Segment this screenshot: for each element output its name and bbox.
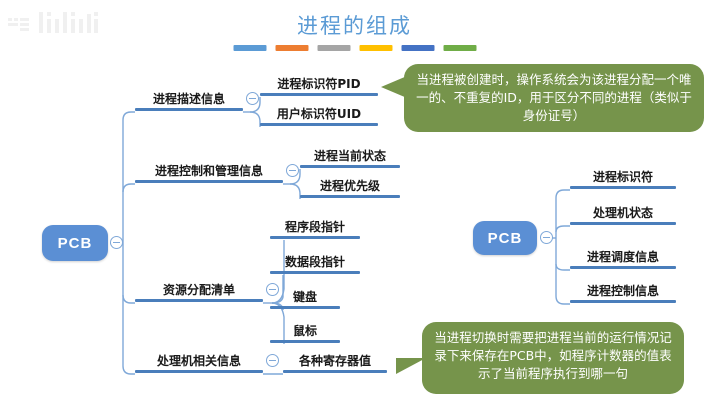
callout-pid: 当进程被创建时，操作系统会为该进程分配一个唯一的、不重复的ID，用于区分不同的进…: [404, 64, 704, 132]
node-label: 进程调度信息: [570, 250, 676, 266]
node-processor-state[interactable]: 处理机状态: [570, 206, 676, 225]
node-underline: [135, 370, 263, 373]
node-label: 数据段指针: [270, 255, 360, 271]
root-node-pcb-left[interactable]: PCB: [42, 225, 108, 261]
collapse-toggle-root-right[interactable]: [540, 231, 553, 244]
node-process-priority[interactable]: 进程优先级: [300, 179, 400, 198]
node-underline: [300, 165, 400, 168]
node-underline: [135, 180, 283, 183]
node-label: 处理机相关信息: [135, 354, 263, 370]
node-process-description-info[interactable]: 进程描述信息: [135, 92, 243, 111]
node-underline: [270, 306, 340, 309]
node-mouse[interactable]: 鼠标: [270, 324, 340, 343]
node-processor-related-info[interactable]: 处理机相关信息: [135, 354, 263, 373]
node-process-current-state[interactable]: 进程当前状态: [300, 149, 400, 168]
collapse-toggle-root-left[interactable]: [110, 236, 123, 249]
node-underline: [260, 123, 378, 126]
node-label: 处理机状态: [570, 206, 676, 222]
callout-switch: 当进程切换时需要把进程当前的运行情况记录下来保存在PCB中，如程序计数器的值表示…: [422, 322, 684, 394]
collapse-toggle-process-description-info[interactable]: [246, 92, 259, 105]
node-pid[interactable]: 进程标识符PID: [260, 77, 378, 96]
mindmap-canvas: 进程的组成: [0, 0, 709, 400]
node-process-control-info[interactable]: 进程控制信息: [570, 284, 676, 303]
node-underline: [570, 266, 676, 269]
node-label: 程序段指针: [270, 220, 360, 236]
node-various-register-values[interactable]: 各种寄存器值: [283, 354, 387, 373]
node-underline: [135, 108, 243, 111]
node-label: 键盘: [270, 290, 340, 306]
node-uid[interactable]: 用户标识符UID: [260, 107, 378, 126]
node-data-segment-pointer[interactable]: 数据段指针: [270, 255, 360, 274]
node-label: 进程优先级: [300, 179, 400, 195]
node-underline: [260, 93, 378, 96]
node-underline: [135, 299, 263, 302]
root-node-pcb-left-label: PCB: [58, 235, 93, 252]
node-label: 各种寄存器值: [283, 354, 387, 370]
node-process-scheduling-info[interactable]: 进程调度信息: [570, 250, 676, 269]
callout-switch-text: 当进程切换时需要把进程当前的运行情况记录下来保存在PCB中，如程序计数器的值表示…: [434, 330, 672, 381]
node-underline: [270, 236, 360, 239]
root-node-pcb-right[interactable]: PCB: [473, 221, 537, 255]
collapse-toggle-process-control-mgmt-info[interactable]: [286, 164, 299, 177]
node-label: 用户标识符UID: [260, 107, 378, 123]
root-node-pcb-right-label: PCB: [488, 230, 523, 247]
callout-pid-text: 当进程被创建时，操作系统会为该进程分配一个唯一的、不重复的ID，用于区分不同的进…: [416, 72, 692, 123]
node-underline: [270, 271, 360, 274]
node-underline: [300, 195, 400, 198]
node-underline: [283, 370, 387, 373]
node-underline: [270, 340, 340, 343]
node-program-segment-pointer[interactable]: 程序段指针: [270, 220, 360, 239]
node-underline: [570, 186, 676, 189]
node-resource-allocation-list[interactable]: 资源分配清单: [135, 283, 263, 302]
node-underline: [570, 222, 676, 225]
node-underline: [570, 300, 676, 303]
node-label: 进程描述信息: [135, 92, 243, 108]
collapse-toggle-processor-related-info[interactable]: [266, 354, 279, 367]
node-label: 进程标识符: [570, 170, 676, 186]
node-label: 资源分配清单: [135, 283, 263, 299]
node-label: 进程当前状态: [300, 149, 400, 165]
node-process-control-mgmt-info[interactable]: 进程控制和管理信息: [135, 164, 283, 183]
node-label: 鼠标: [270, 324, 340, 340]
node-keyboard[interactable]: 键盘: [270, 290, 340, 309]
node-label: 进程控制信息: [570, 284, 676, 300]
node-label: 进程标识符PID: [260, 77, 378, 93]
node-label: 进程控制和管理信息: [135, 164, 283, 180]
node-process-identifier[interactable]: 进程标识符: [570, 170, 676, 189]
